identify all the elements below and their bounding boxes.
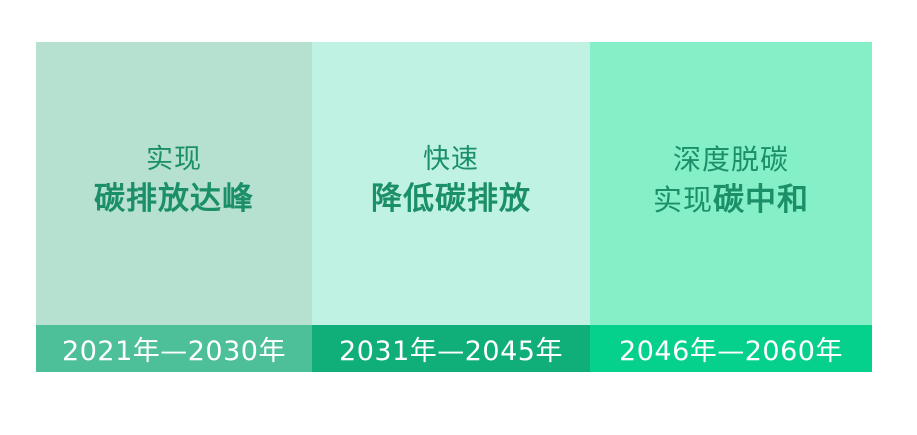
stage-column-neutral: 深度脱碳 实现碳中和 2046年—2060年 [590,42,872,372]
stage-period-bar-neutral: 2046年—2060年 [590,325,872,372]
stage-label-line-bottom-reduce: 降低碳排放 [371,180,531,220]
stage-period-bar-reduce: 2031年—2045年 [312,325,590,372]
stage-label-line-bottom-peak: 碳排放达峰 [94,180,254,220]
stage-period-text-reduce: 2031年—2045年 [339,329,563,368]
stage-period-text-neutral: 2046年—2060年 [619,329,843,368]
stage-label-line-bottom-neutral-emphasis: 碳中和 [713,182,809,218]
stage-label-line-top-neutral: 深度脱碳 [673,142,789,178]
stage-period-text-peak: 2021年—2030年 [62,329,286,368]
stage-label-line-top-reduce: 快速 [423,143,479,178]
stage-period-bar-peak: 2021年—2030年 [36,325,312,372]
stage-label-line-top-peak: 实现 [146,143,202,178]
stage-column-reduce: 快速 降低碳排放 2031年—2045年 [312,42,590,372]
stage-body-neutral: 深度脱碳 实现碳中和 [590,42,872,325]
stage-column-peak: 实现 碳排放达峰 2021年—2030年 [36,42,312,372]
stage-body-peak: 实现 碳排放达峰 [36,42,312,325]
stage-body-reduce: 快速 降低碳排放 [312,42,590,325]
stage-label-line-bottom-neutral: 实现碳中和 [653,181,809,221]
carbon-roadmap-diagram: 实现 碳排放达峰 2021年—2030年 快速 降低碳排放 2031年—2045… [36,42,872,372]
stage-label-line-bottom-neutral-plain: 实现 [653,183,713,217]
